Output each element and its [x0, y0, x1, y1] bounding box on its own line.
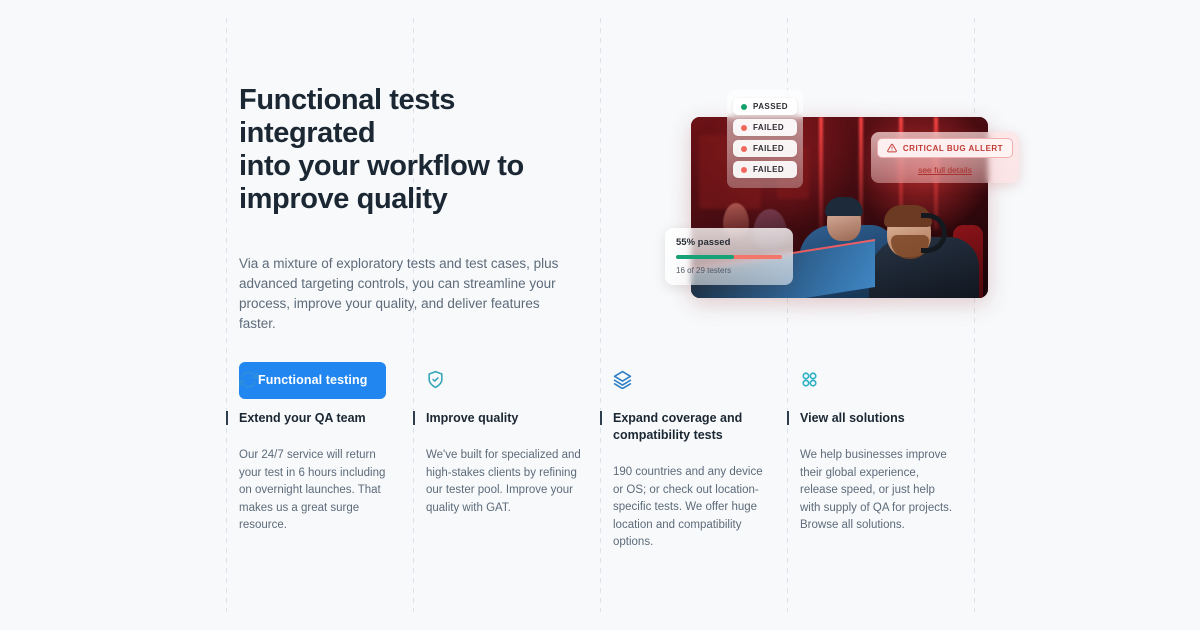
feature-expand-coverage[interactable]: Expand coverage and compatibility tests … [600, 368, 787, 552]
layers-stack-icon [613, 368, 771, 390]
status-dot-failed-icon [741, 146, 747, 152]
pass-rate-note: 16 of 29 testers [676, 266, 782, 275]
feature-view-all-solutions[interactable]: View all solutions We help businesses im… [787, 368, 974, 535]
status-dot-failed-icon [741, 167, 747, 173]
feature-body: Our 24/7 service will return your test i… [239, 447, 397, 535]
feature-accent-bar [787, 411, 789, 425]
alert-banner: CRITICAL BUG ALLERT [877, 138, 1013, 158]
feature-title: Improve quality [426, 410, 584, 427]
page-root: Functional tests integrated into your wo… [0, 0, 1200, 630]
feature-extend-your-qa-team[interactable]: Extend your QA team Our 24/7 service wil… [226, 368, 413, 535]
feature-title-text: Improve quality [426, 411, 518, 425]
status-dot-failed-icon [741, 125, 747, 131]
shield-check-icon [426, 368, 584, 390]
feature-body: 190 countries and any device or OS; or c… [613, 464, 771, 552]
pass-rate-card: 55% passed 16 of 29 testers [665, 228, 793, 285]
see-full-details-link[interactable]: see full details [877, 165, 1013, 175]
pass-rate-progress-fill [676, 255, 734, 259]
feature-accent-bar [226, 411, 228, 425]
status-pill: FAILED [733, 161, 797, 178]
status-pill-label: FAILED [753, 165, 784, 174]
feature-title-text: Expand coverage and compatibility tests [613, 411, 742, 442]
hero-copy: Functional tests integrated into your wo… [239, 84, 574, 399]
status-pill-label: FAILED [753, 123, 784, 132]
feature-body: We've built for specialized and high-sta… [426, 447, 584, 517]
alert-title: CRITICAL BUG ALLERT [903, 144, 1003, 153]
pass-rate-title: 55% passed [676, 237, 782, 248]
neon-light [819, 117, 823, 229]
status-pill-label: FAILED [753, 144, 784, 153]
hero-subtitle: Via a mixture of exploratory tests and t… [239, 254, 567, 334]
feature-accent-bar [600, 411, 602, 425]
page-title-line: into your workflow to [239, 150, 574, 183]
status-pill-label: PASSED [753, 102, 788, 111]
status-pill: PASSED [733, 98, 797, 115]
test-status-card: PASSED FAILED FAILED FAILED [727, 90, 803, 188]
warning-triangle-icon [887, 143, 897, 153]
player-beanie [825, 197, 863, 216]
status-pill: FAILED [733, 119, 797, 136]
feature-accent-bar [413, 411, 415, 425]
feature-body: We help businesses improve their global … [800, 447, 958, 535]
feature-columns: Extend your QA team Our 24/7 service wil… [226, 368, 974, 598]
status-dot-passed-icon [741, 104, 747, 110]
status-pill: FAILED [733, 140, 797, 157]
page-title: Functional tests integrated into your wo… [239, 84, 574, 216]
hero-artwork: PASSED FAILED FAILED FAILED [655, 60, 1015, 320]
feature-title-text: View all solutions [800, 411, 905, 425]
feature-title-text: Extend your QA team [239, 411, 366, 425]
pass-rate-progress-bar [676, 255, 782, 259]
feature-title: View all solutions [800, 410, 958, 427]
page-title-line: Functional tests integrated [239, 84, 574, 150]
critical-bug-alert-card: CRITICAL BUG ALLERT see full details [871, 132, 1019, 183]
feature-title: Extend your QA team [239, 410, 397, 427]
feature-improve-quality[interactable]: Improve quality We've built for speciali… [413, 368, 600, 517]
feature-title: Expand coverage and compatibility tests [613, 410, 771, 444]
page-title-line: improve quality [239, 183, 574, 216]
refresh-sync-icon [239, 368, 397, 390]
grid-dots-icon [800, 368, 958, 390]
